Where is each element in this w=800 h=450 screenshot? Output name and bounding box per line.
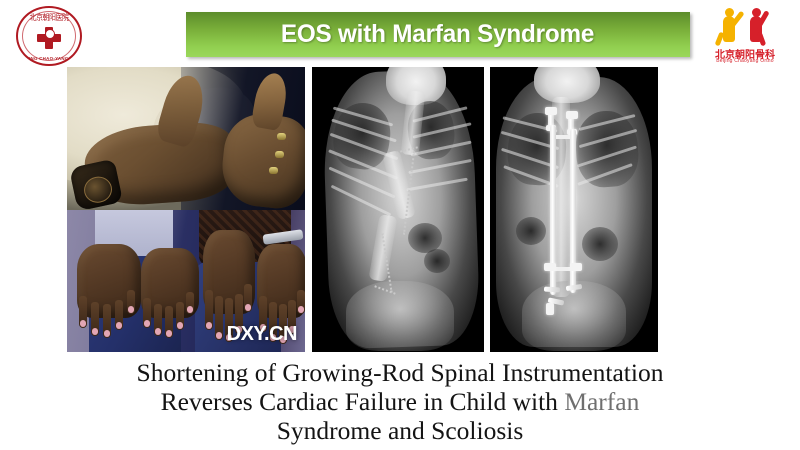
figure-red-icon bbox=[743, 4, 769, 44]
caption-line-1: Shortening of Growing-Rod Spinal Instrum… bbox=[0, 358, 800, 387]
pedicle-screw-1 bbox=[544, 286, 560, 292]
seal-circle: 北京朝阳医院 BEIJING CHAO-YANG HOSPITAL bbox=[16, 6, 82, 66]
hand-4 bbox=[257, 244, 305, 318]
caption-line-2: Reverses Cardiac Failure in Child with M… bbox=[0, 387, 800, 416]
ortho-logo-english-text: Beijing Chaoyang Ortho bbox=[702, 58, 788, 64]
hand-3 bbox=[203, 230, 255, 314]
slide-caption: Shortening of Growing-Rod Spinal Instrum… bbox=[0, 358, 800, 445]
arachnodactyly-photo: DXY.CN bbox=[67, 210, 305, 352]
seal-english-text: BEIJING CHAO-YANG HOSPITAL bbox=[18, 56, 80, 61]
caption-line-3: Syndrome and Scoliosis bbox=[0, 416, 800, 445]
clinical-photo-column: DXY.CN bbox=[67, 67, 305, 352]
spinal-hook-upper-left bbox=[545, 107, 557, 115]
presentation-slide: 北京朝阳医院 BEIJING CHAO-YANG HOSPITAL EOS wi… bbox=[0, 0, 800, 450]
seal-chinese-text: 北京朝阳医院 bbox=[18, 13, 80, 24]
dancing-figures-icon bbox=[716, 4, 776, 46]
caption-line-2-part-2: Marfan bbox=[564, 387, 639, 416]
caption-line-2-part-1: Reverses Cardiac Failure in Child with bbox=[161, 387, 565, 416]
pedicle-screw-lower-right bbox=[570, 263, 582, 271]
figure-yellow-icon bbox=[716, 4, 742, 44]
slide-header: 北京朝阳医院 BEIJING CHAO-YANG HOSPITAL EOS wi… bbox=[0, 0, 800, 66]
hand-1 bbox=[77, 244, 141, 318]
pedicle-screw-lower-left bbox=[544, 263, 556, 271]
postop-xray-image bbox=[490, 67, 658, 352]
ortho-department-logo: 北京朝阳骨科 Beijing Chaoyang Ortho bbox=[702, 4, 788, 66]
anchor-lower bbox=[546, 303, 554, 315]
hospital-seal-logo: 北京朝阳医院 BEIJING CHAO-YANG HOSPITAL bbox=[10, 4, 84, 64]
red-cross-icon bbox=[37, 27, 61, 49]
dxy-watermark: DXY.CN bbox=[227, 323, 297, 346]
spinal-hook-upper-right bbox=[566, 111, 578, 119]
slide-title-bar: EOS with Marfan Syndrome bbox=[186, 12, 690, 57]
slide-title: EOS with Marfan Syndrome bbox=[281, 20, 594, 49]
image-panel-row: DXY.CN bbox=[0, 67, 800, 353]
preop-xray-image bbox=[312, 67, 484, 352]
thumb-sign-photo bbox=[67, 67, 305, 210]
hand-2 bbox=[141, 248, 199, 318]
